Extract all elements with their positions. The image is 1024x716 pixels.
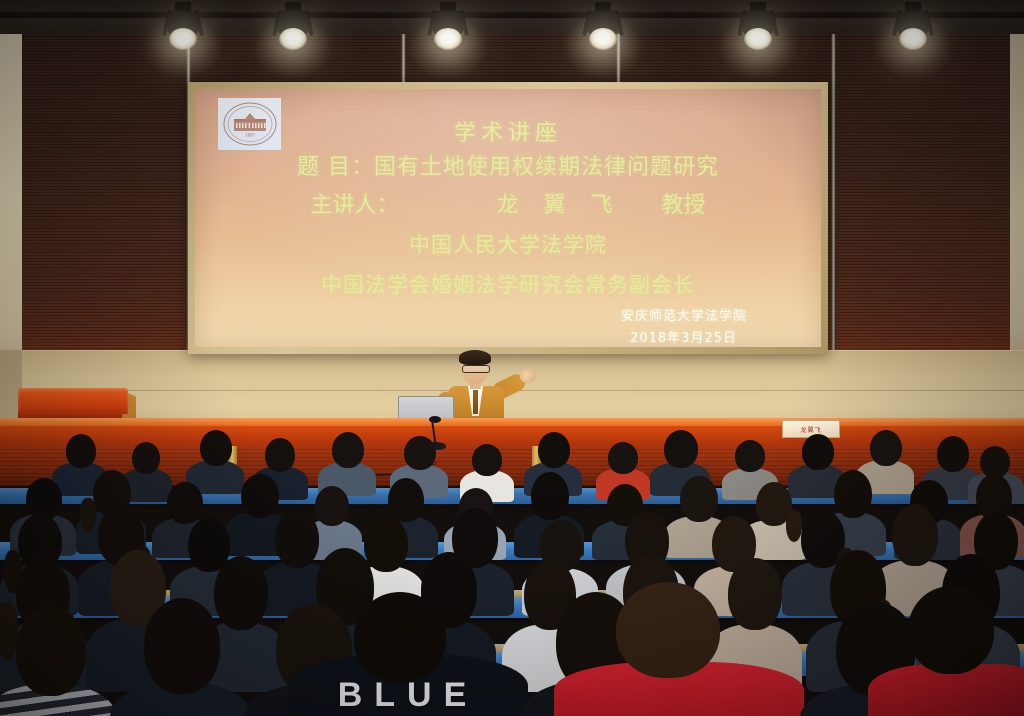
slide-position-line: 中国法学会婚姻法学研究会常务副会长	[195, 269, 821, 299]
ceiling-light-track	[0, 12, 1024, 18]
lecture-hall-photo: 1897 学术讲座 题 目：国有土地使用权续期法律问题研究 主讲人： 龙 翼 飞…	[0, 0, 1024, 716]
slide-speaker-line: 主讲人： 龙 翼 飞 教授	[195, 187, 821, 219]
glasses-icon	[462, 365, 490, 373]
projection-screen-surface: 1897 学术讲座 题 目：国有土地使用权续期法律问题研究 主讲人： 龙 翼 飞…	[195, 89, 821, 347]
spotlight-icon-1	[155, 2, 211, 64]
audience-area: BLUE	[0, 430, 1024, 716]
audience-person	[0, 606, 116, 716]
projection-screen-frame: 1897 学术讲座 题 目：国有土地使用权续期法律问题研究 主讲人： 龙 翼 飞…	[188, 82, 828, 354]
slide-speaker-rank: 教授	[662, 193, 706, 218]
slide-speaker-name: 龙 翼 飞	[497, 193, 622, 218]
speaker-hair	[459, 350, 491, 365]
slide-title: 学术讲座	[195, 115, 821, 147]
slide-footer-date: 2018年3月25日	[630, 327, 737, 346]
head-table-edge	[0, 418, 1024, 426]
spotlight-icon-3	[420, 2, 476, 64]
spotlight-icon-4	[575, 2, 631, 64]
audience-person	[110, 598, 252, 716]
speaker-tie	[473, 390, 478, 414]
slide-topic-line: 题 目：国有土地使用权续期法律问题研究	[195, 149, 821, 181]
slide-speaker-label: 主讲人：	[310, 193, 398, 218]
audience-person-red-right	[868, 616, 1024, 716]
spotlight-icon-5	[730, 2, 786, 64]
spotlight-icon-2	[265, 2, 321, 64]
slide-affiliation-line: 中国人民大学法学院	[195, 229, 821, 259]
slide-footer-organization: 安庆师范大学法学院	[621, 305, 747, 324]
audience-person-blue-jacket: BLUE	[288, 626, 528, 716]
audience-person	[318, 432, 376, 490]
audience-person-red-hoodie	[554, 618, 804, 716]
spotlight-icon-6	[885, 2, 941, 64]
jacket-text: BLUE	[288, 676, 528, 715]
